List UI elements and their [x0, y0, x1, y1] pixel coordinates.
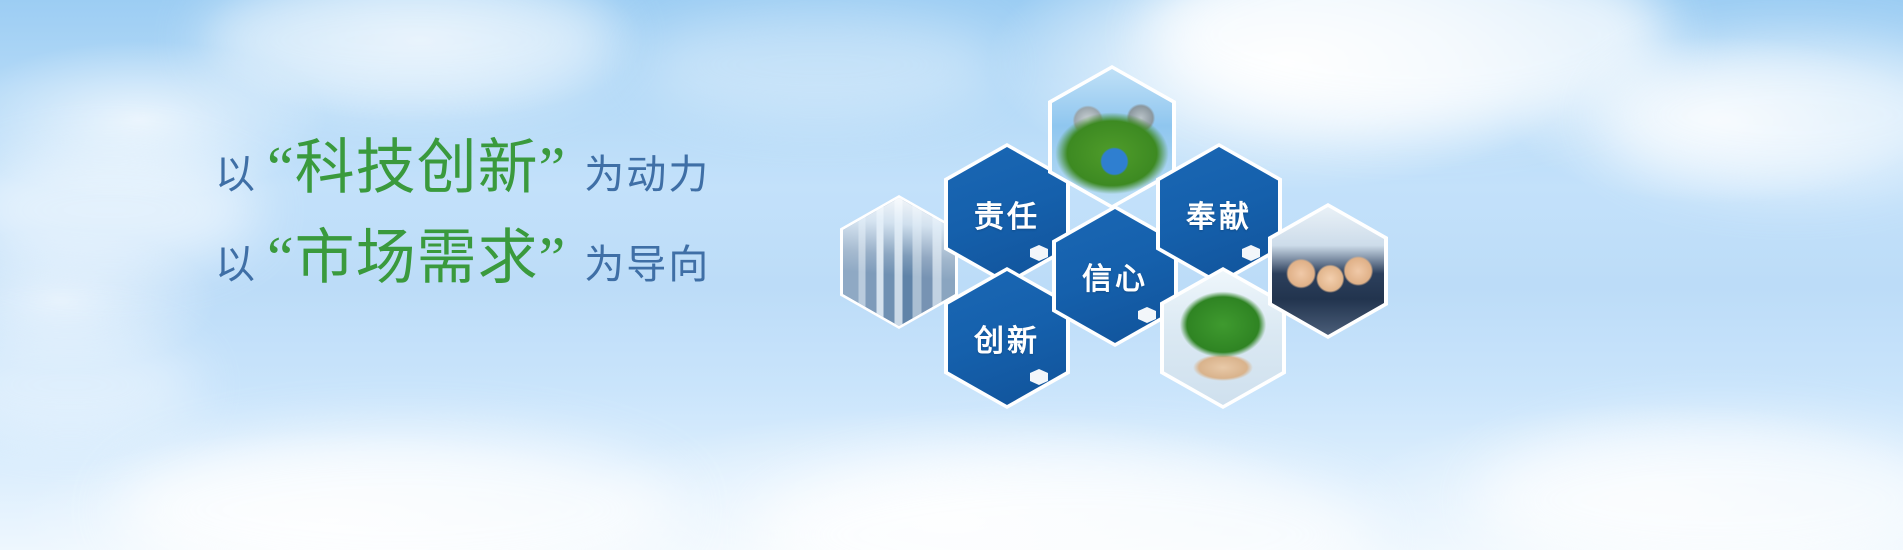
cloud-decoration	[0, 330, 200, 440]
headline-line-2-keyword: “市场需求”	[267, 228, 566, 288]
headline-line-2-prefix: 以	[215, 245, 257, 285]
headline-line-2: 以 “市场需求” 为导向	[215, 228, 855, 288]
cloud-decoration	[120, 430, 680, 550]
headline-line-1-prefix: 以	[215, 155, 257, 195]
hex-plant-photo-border	[1160, 267, 1286, 409]
hex-innovation[interactable]: 创新	[948, 271, 1066, 405]
cloud-decoration	[1480, 420, 1903, 550]
business-team-photo-hex	[1272, 207, 1384, 335]
hex-innovation-label: 创新	[948, 271, 1066, 405]
headline-line-1-suffix: 为动力	[584, 155, 710, 195]
hexagon-cluster: 责任 创新 信心 奉献	[800, 55, 1420, 395]
hex-team-photo-border	[1268, 203, 1388, 339]
cloud-decoration	[1600, 40, 1903, 190]
hex-city-photo-border	[840, 195, 958, 329]
promo-banner: 以 “科技创新” 为动力 以 “市场需求” 为导向 责任	[0, 0, 1903, 550]
headline-line-1-keyword: “科技创新”	[267, 138, 566, 198]
plant-hands-photo-hex	[1164, 271, 1282, 405]
cloud-decoration	[760, 450, 1380, 550]
headline-line-1: 以 “科技创新” 为动力	[215, 138, 855, 198]
city-photo-hex	[843, 198, 955, 326]
cloud-decoration	[200, 0, 620, 110]
hex-dedication-label: 奉献	[1160, 147, 1278, 281]
hex-innovation-border[interactable]: 创新	[944, 267, 1070, 409]
hex-dedication[interactable]: 奉献	[1160, 147, 1278, 281]
eco-globe-photo-hex	[1052, 69, 1172, 205]
headline-line-2-suffix: 为导向	[584, 245, 710, 285]
headline-block: 以 “科技创新” 为动力 以 “市场需求” 为导向	[215, 138, 855, 288]
